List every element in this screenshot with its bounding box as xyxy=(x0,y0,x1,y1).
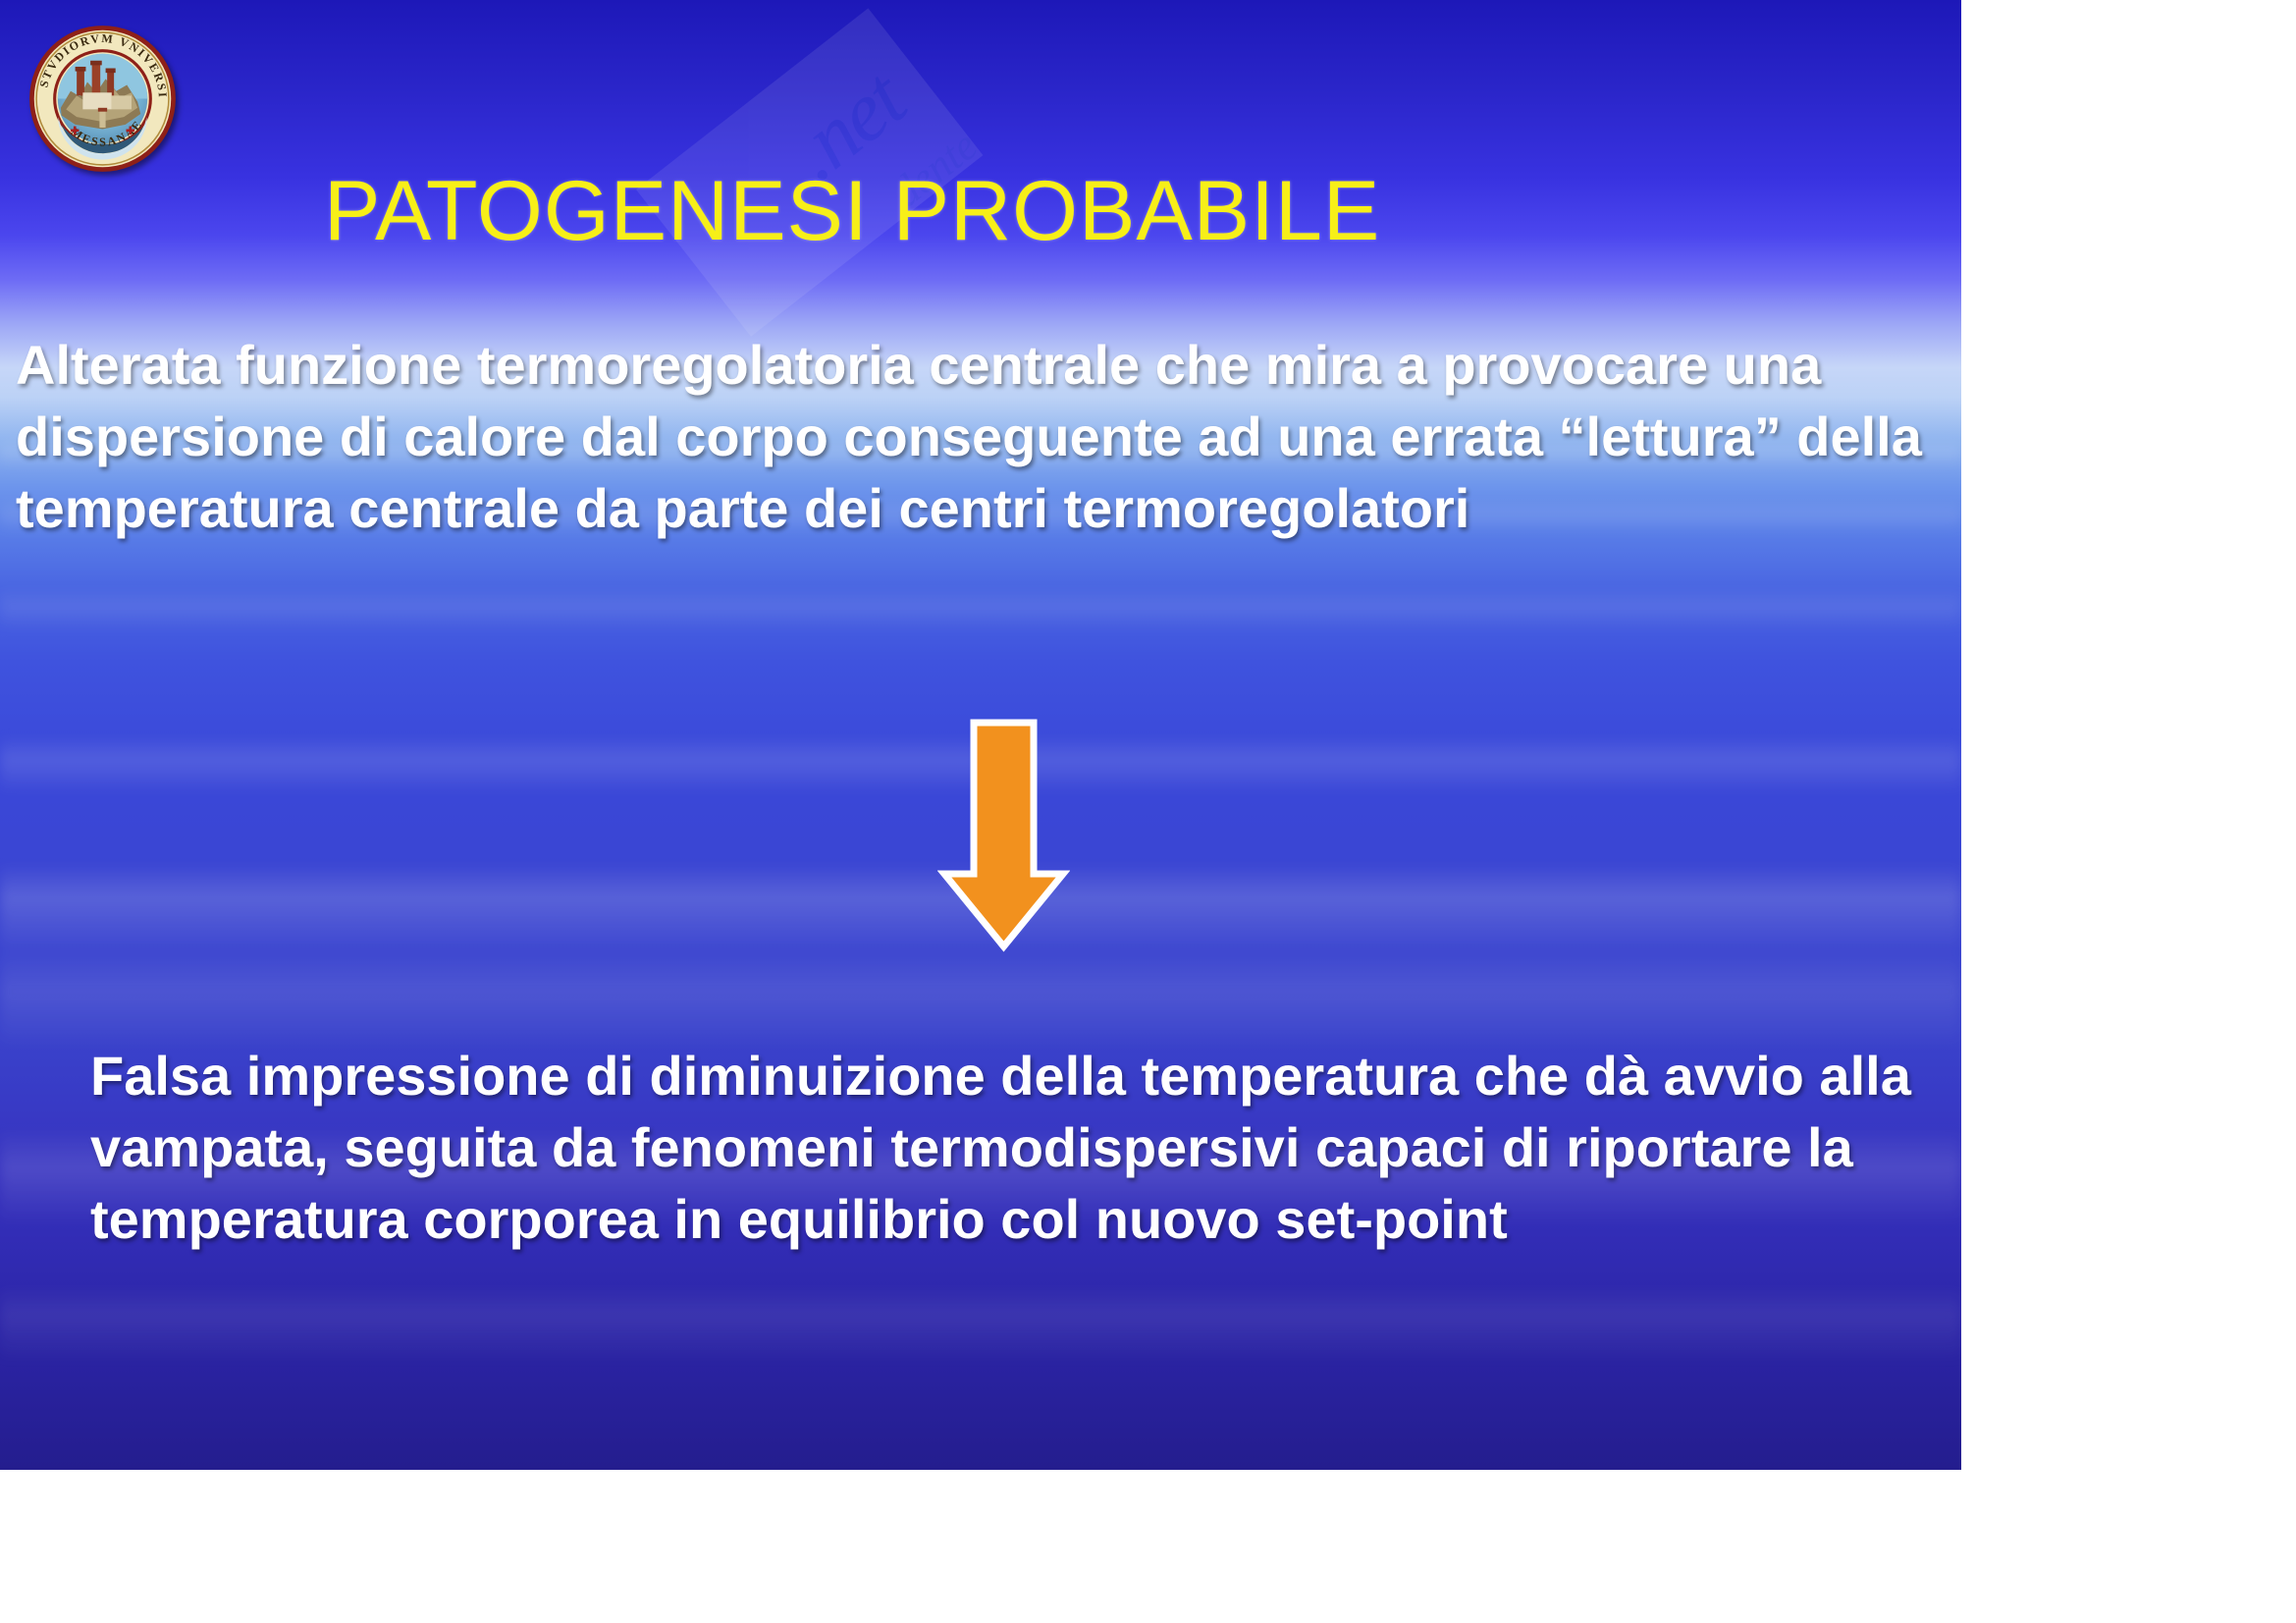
paragraph-conclusion: Falsa impressione di diminuizione della … xyxy=(90,1041,1936,1255)
page-title: PATOGENESI PROBABILE xyxy=(324,167,1600,255)
down-arrow-icon xyxy=(937,717,1070,952)
university-seal-logo: STVDIORVM VNIVERSITAS MESSANAE xyxy=(27,23,179,175)
paragraph-premise: Alterata funzione termoregolatoria centr… xyxy=(16,330,1954,544)
presentation-slide: .net dente xyxy=(0,0,1961,1470)
